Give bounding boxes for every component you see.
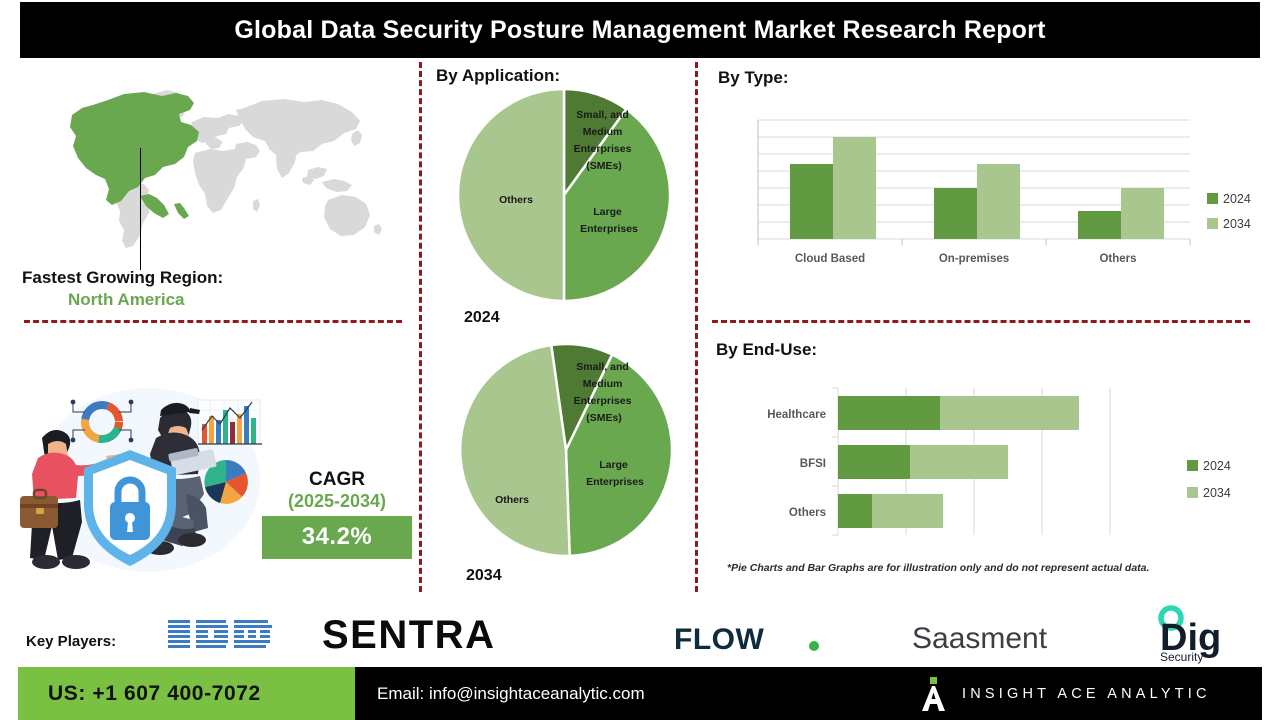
pie-slice-label-others: Others xyxy=(495,494,529,506)
footer-email: Email: info@insightaceanalytic.com xyxy=(355,684,645,704)
bar-healthcare-2034 xyxy=(940,396,1079,430)
axis-label-healthcare: Healthcare xyxy=(767,409,826,421)
header-bar: Global Data Security Posture Management … xyxy=(20,2,1260,58)
ibm-logo xyxy=(168,618,280,654)
chart-footnote: *Pie Charts and Bar Graphs are for illus… xyxy=(727,562,1149,574)
footer-phone-band: US: +1 607 400-7072 xyxy=(18,667,355,720)
axis-label-others: Others xyxy=(1099,253,1136,265)
bar-others-2024 xyxy=(1078,211,1121,239)
legend-label-2024: 2024 xyxy=(1223,192,1251,206)
bar-bfsi-2034 xyxy=(910,445,1008,479)
pie-chart-application-2034: Small, and Medium Enterprises (SMEs) Lar… xyxy=(452,340,680,560)
svg-text:SENTRA: SENTRA xyxy=(322,613,495,657)
horizontal-divider-right xyxy=(712,320,1250,323)
saasment-logo: Saasment xyxy=(912,620,1086,656)
axis-label-cloud-based: Cloud Based xyxy=(795,253,865,265)
bar-others-enduse-2034 xyxy=(872,494,943,528)
bar-on-premises-2034 xyxy=(977,164,1020,239)
footer-phone: US: +1 607 400-7072 xyxy=(18,682,261,706)
world-map xyxy=(22,78,404,258)
bar-healthcare-2024 xyxy=(838,396,940,430)
pie-chart-application-2024: Small, and Medium Enterprises (SMEs) Lar… xyxy=(452,86,677,304)
axis-label-bfsi: BFSI xyxy=(800,458,826,470)
page-title: Global Data Security Posture Management … xyxy=(234,16,1045,45)
footer-brand: INSIGHT ACE ANALYTIC xyxy=(918,667,1211,720)
cagr-block: CAGR (2025-2034) 34.2% xyxy=(262,470,412,559)
axis-label-on-premises: On-premises xyxy=(939,253,1009,265)
key-players-label: Key Players: xyxy=(26,633,116,650)
section-title-enduse: By End-Use: xyxy=(716,340,817,360)
horizontal-divider-left xyxy=(24,320,402,323)
pie-year-2024: 2024 xyxy=(464,309,500,327)
pie-year-2034: 2034 xyxy=(466,567,502,585)
fastest-growing-region-label: Fastest Growing Region: xyxy=(22,268,223,288)
bar-bfsi-2024 xyxy=(838,445,910,479)
bar-chart-by-type: Cloud Based On-premises Others 2024 2034 xyxy=(700,108,1260,268)
bar-cloud-based-2024 xyxy=(790,164,833,239)
svg-text:FLOW: FLOW xyxy=(674,623,764,656)
section-title-application: By Application: xyxy=(436,66,560,86)
legend-swatch-2034 xyxy=(1187,487,1198,498)
dig-security-logo: Dig Security xyxy=(1152,604,1264,664)
bar-chart-by-end-use: Healthcare BFSI Others 2024 2034 xyxy=(700,380,1260,555)
axis-label-others: Others xyxy=(789,507,826,519)
footer-brand-name: INSIGHT ACE ANALYTIC xyxy=(962,686,1211,702)
sentra-logo: SENTRA xyxy=(322,612,568,660)
svg-text:Security: Security xyxy=(1160,650,1203,664)
legend-swatch-2024 xyxy=(1187,460,1198,471)
legend-swatch-2034 xyxy=(1207,218,1218,229)
infographic-page: Global Data Security Posture Management … xyxy=(0,0,1280,720)
svg-text:Saasment: Saasment xyxy=(912,622,1048,655)
fastest-growing-region-value: North America xyxy=(68,290,185,310)
legend-label-2024: 2024 xyxy=(1203,459,1231,473)
cagr-range: (2025-2034) xyxy=(262,491,412,512)
legend-swatch-2024 xyxy=(1207,193,1218,204)
flow-logo: FLOW xyxy=(674,622,830,656)
cagr-value: 34.2% xyxy=(262,516,412,559)
vertical-divider-left xyxy=(419,62,422,592)
cagr-title: CAGR xyxy=(262,470,412,491)
bar-others-2034 xyxy=(1121,188,1164,239)
legend-label-2034: 2034 xyxy=(1203,486,1231,500)
section-title-type: By Type: xyxy=(718,68,789,88)
data-security-illustration xyxy=(20,372,270,587)
map-pointer-line xyxy=(140,148,141,270)
insight-ace-a-mark xyxy=(918,677,948,711)
bar-cloud-based-2034 xyxy=(833,137,876,239)
pie-slice-label-others: Others xyxy=(499,194,533,206)
legend-label-2034: 2034 xyxy=(1223,217,1251,231)
bar-on-premises-2024 xyxy=(934,188,977,239)
vertical-divider-right xyxy=(695,62,698,592)
bar-others-enduse-2024 xyxy=(838,494,872,528)
